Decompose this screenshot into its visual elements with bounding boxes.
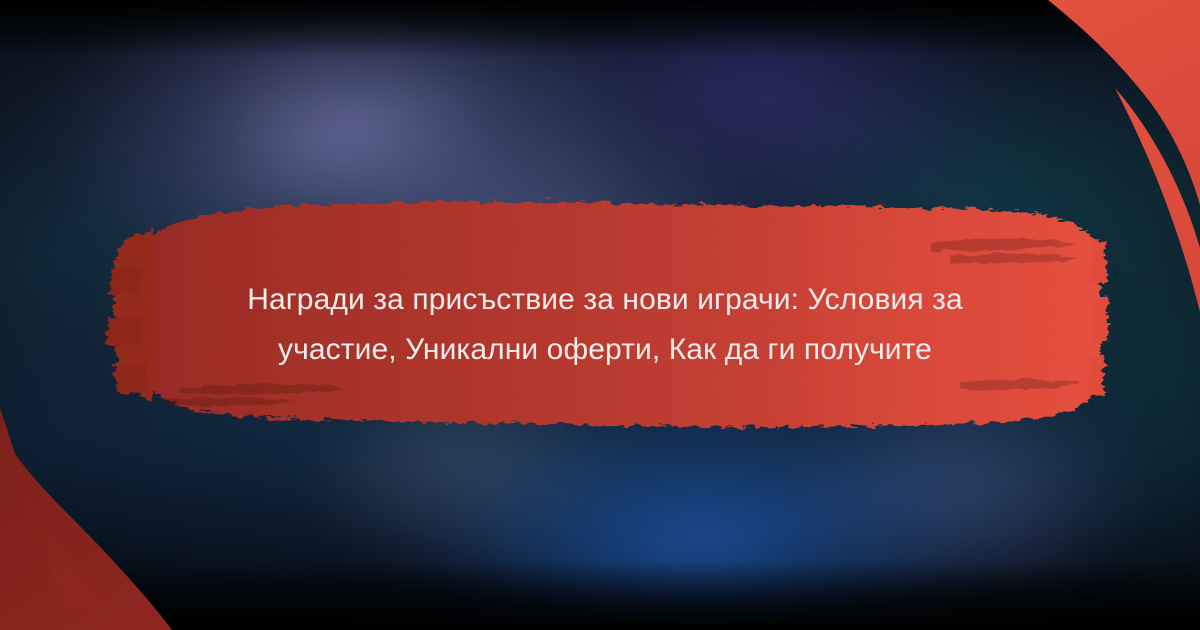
share-card: Награди за присъствие за нови играчи: Ус…	[0, 0, 1200, 630]
brush-left-fringe	[106, 230, 152, 400]
page-title: Награди за присъствие за нови играчи: Ус…	[175, 275, 1035, 375]
